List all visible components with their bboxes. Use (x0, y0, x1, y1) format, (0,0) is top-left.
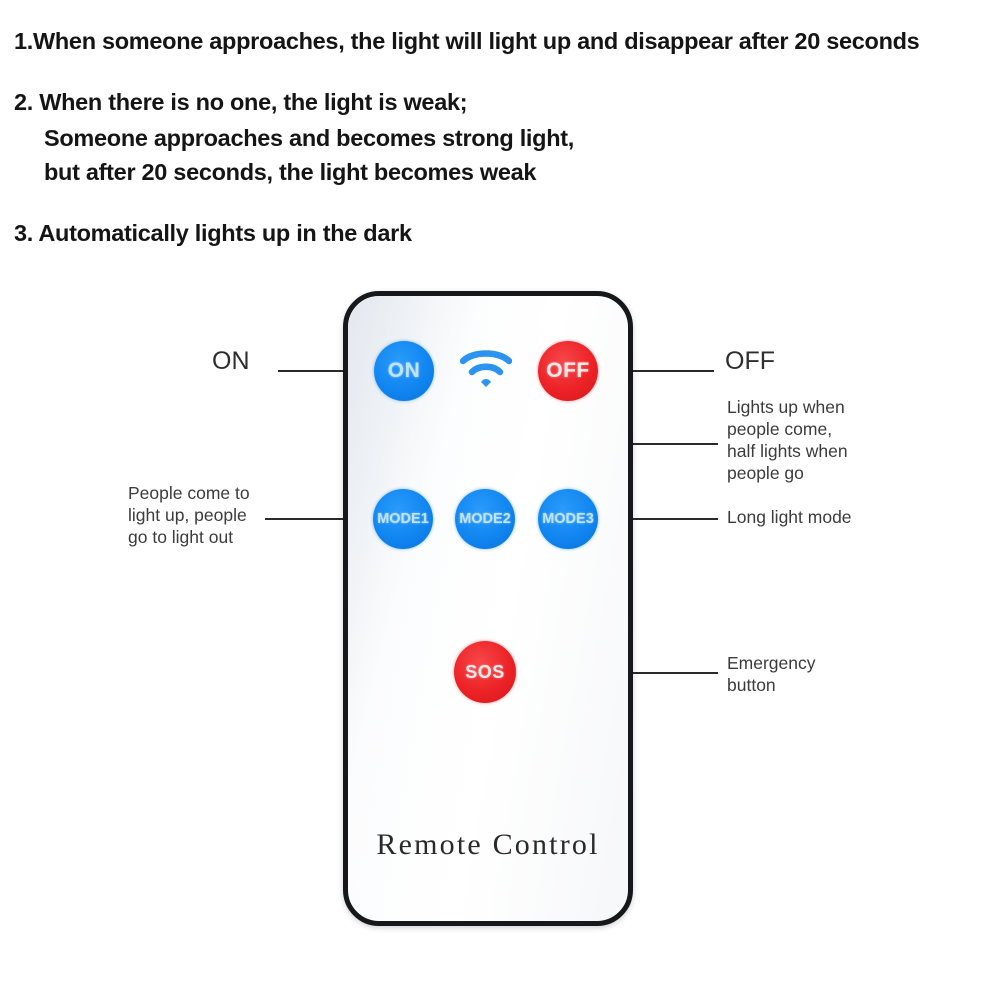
sos-button[interactable]: SOS (454, 641, 516, 703)
callout-off: OFF (725, 347, 775, 375)
callout-on: ON (212, 347, 250, 375)
mode2-button[interactable]: MODE2 (455, 489, 515, 549)
wifi-icon (460, 348, 512, 392)
instruction-3: 3. Automatically lights up in the dark (14, 220, 412, 247)
callout-mode3: Long light mode (727, 506, 852, 528)
instruction-1: 1.When someone approaches, the light wil… (14, 28, 919, 55)
remote-control-instruction-diagram: 1.When someone approaches, the light wil… (0, 0, 1000, 1000)
mode3-button[interactable]: MODE3 (538, 489, 598, 549)
callout-mode2: Lights up when people come, half lights … (727, 396, 848, 484)
off-button[interactable]: OFF (538, 341, 598, 401)
instruction-2-line1: 2. When there is no one, the light is we… (14, 89, 467, 116)
on-button[interactable]: ON (374, 341, 434, 401)
callout-sos: Emergency button (727, 652, 816, 696)
instruction-2-line3: but after 20 seconds, the light becomes … (44, 159, 536, 186)
remote-brand-text: Remote Control (343, 828, 633, 862)
instruction-2-line2: Someone approaches and becomes strong li… (44, 125, 574, 152)
mode1-button[interactable]: MODE1 (373, 489, 433, 549)
callout-mode1: People come to light up, people go to li… (128, 482, 250, 548)
